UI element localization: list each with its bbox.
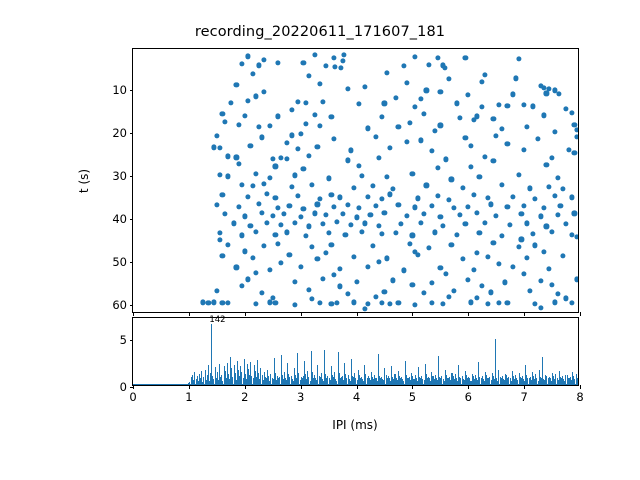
- scatter-point: [326, 231, 331, 236]
- scatter-point: [533, 196, 538, 201]
- scatter-point: [510, 264, 515, 269]
- scatter-point: [485, 195, 490, 200]
- scatter-point: [401, 268, 406, 273]
- scatter-point: [407, 241, 412, 246]
- scatter-point: [572, 150, 577, 155]
- scatter-point: [530, 104, 535, 109]
- scatter-point: [530, 231, 535, 236]
- scatter-point: [404, 140, 409, 145]
- scatter-point: [253, 229, 258, 234]
- scatter-point: [499, 127, 504, 132]
- scatter-point: [251, 255, 256, 260]
- scatter-point: [234, 265, 239, 270]
- scatter-point: [290, 108, 295, 113]
- scatter-y-ticklabel: 20: [112, 126, 127, 140]
- scatter-y-ticklabel: 50: [112, 255, 127, 269]
- scatter-point: [301, 206, 306, 211]
- scatter-point: [245, 98, 250, 103]
- scatter-point: [295, 147, 300, 152]
- histogram-baseline: [133, 384, 578, 385]
- scatter-point: [429, 149, 434, 154]
- scatter-point: [278, 222, 283, 227]
- scatter-point: [410, 233, 415, 238]
- scatter-point: [563, 296, 568, 301]
- scatter-point: [337, 195, 342, 200]
- scatter-point: [211, 145, 216, 150]
- scatter-point: [276, 114, 281, 119]
- scatter-point: [220, 301, 225, 306]
- scatter-point: [404, 81, 409, 86]
- scatter-point: [488, 202, 493, 207]
- scatter-point: [329, 115, 334, 120]
- scatter-point: [446, 295, 451, 300]
- scatter-point: [292, 220, 297, 225]
- scatter-point: [536, 137, 541, 142]
- scatter-point: [290, 133, 295, 138]
- scatter-point: [522, 272, 527, 277]
- scatter-point: [357, 206, 362, 211]
- scatter-point: [435, 194, 440, 199]
- scatter-point: [488, 290, 493, 295]
- scatter-point: [351, 300, 356, 305]
- scatter-point: [315, 202, 320, 207]
- scatter-point: [239, 182, 244, 187]
- scatter-point: [390, 186, 395, 191]
- scatter-point: [337, 267, 342, 272]
- scatter-point: [432, 128, 437, 133]
- scatter-point: [217, 230, 222, 235]
- scatter-point: [312, 52, 317, 57]
- scatter-point: [223, 119, 228, 124]
- scatter-point: [413, 302, 418, 307]
- scatter-point: [563, 106, 568, 111]
- scatter-point: [468, 144, 473, 149]
- scatter-point: [326, 176, 331, 181]
- histogram-x-tick: [357, 385, 358, 389]
- scatter-point: [220, 253, 225, 258]
- scatter-point: [474, 251, 479, 256]
- scatter-point: [575, 128, 578, 133]
- histogram-x-ticklabel: 7: [520, 390, 527, 404]
- scatter-point: [217, 172, 222, 177]
- scatter-point: [421, 291, 426, 296]
- scatter-point: [304, 100, 309, 105]
- scatter-point: [491, 158, 496, 163]
- scatter-point: [359, 229, 364, 234]
- histogram-x-ticklabel: 5: [409, 390, 416, 404]
- scatter-y-axis-label: t (s): [77, 169, 91, 193]
- scatter-point: [259, 290, 264, 295]
- scatter-y-ticklabel: 10: [112, 83, 127, 97]
- scatter-point: [225, 154, 230, 159]
- scatter-point: [471, 267, 476, 272]
- scatter-point: [315, 144, 320, 149]
- scatter-point: [295, 99, 300, 104]
- scatter-point: [396, 125, 401, 130]
- scatter-point: [273, 164, 278, 169]
- scatter-x-tick: [301, 312, 302, 316]
- scatter-point: [516, 244, 521, 249]
- scatter-point: [262, 181, 267, 186]
- scatter-point: [220, 193, 225, 198]
- scatter-point: [572, 122, 577, 127]
- scatter-point: [544, 163, 549, 168]
- scatter-point: [510, 194, 515, 199]
- scatter-point: [563, 222, 568, 227]
- scatter-point: [482, 72, 487, 77]
- scatter-point: [298, 131, 303, 136]
- scatter-point: [533, 243, 538, 248]
- scatter-point: [309, 182, 314, 187]
- scatter-point: [547, 266, 552, 271]
- scatter-point: [494, 133, 499, 138]
- scatter-point: [287, 203, 292, 208]
- scatter-point: [558, 204, 563, 209]
- scatter-point: [569, 301, 574, 306]
- scatter-point: [524, 255, 529, 260]
- scatter-point: [516, 172, 521, 177]
- scatter-point: [306, 224, 311, 229]
- scatter-point: [329, 242, 334, 247]
- scatter-point: [460, 257, 465, 262]
- scatter-point: [496, 301, 501, 306]
- scatter-point: [441, 223, 446, 228]
- scatter-point: [454, 232, 459, 237]
- scatter-point: [407, 121, 412, 126]
- scatter-point: [538, 214, 543, 219]
- scatter-point: [365, 126, 370, 131]
- scatter-point: [267, 300, 272, 305]
- scatter-point: [480, 104, 485, 109]
- scatter-point: [365, 264, 370, 269]
- scatter-point: [265, 220, 270, 225]
- scatter-point: [513, 76, 518, 81]
- scatter-y-ticklabel: 40: [112, 212, 127, 226]
- scatter-point: [276, 61, 281, 66]
- scatter-point: [309, 245, 314, 250]
- histogram-x-ticklabel: 8: [576, 390, 583, 404]
- histogram-x-tick: [245, 385, 246, 389]
- histogram-x-tick: [524, 385, 525, 389]
- scatter-y-tick: [130, 133, 134, 134]
- histogram-x-axis-label: IPI (ms): [332, 418, 377, 432]
- scatter-point: [214, 134, 219, 139]
- scatter-point: [318, 123, 323, 128]
- scatter-point: [519, 212, 524, 217]
- scatter-point: [306, 74, 311, 79]
- scatter-point: [237, 204, 242, 209]
- scatter-point: [438, 123, 443, 128]
- scatter-point: [320, 99, 325, 104]
- scatter-point: [320, 276, 325, 281]
- scatter-point: [338, 65, 343, 70]
- scatter-point: [572, 211, 577, 216]
- scatter-point: [287, 252, 292, 257]
- scatter-point: [401, 64, 406, 69]
- matplotlib-figure: recording_20220611_171607_181 t (s) 1020…: [0, 0, 640, 480]
- scatter-point: [432, 230, 437, 235]
- scatter-point: [245, 54, 250, 59]
- scatter-point: [357, 163, 362, 168]
- scatter-point: [284, 140, 289, 145]
- scatter-x-tick: [189, 312, 190, 316]
- scatter-point: [399, 222, 404, 227]
- scatter-y-tick: [130, 176, 134, 177]
- scatter-point: [393, 230, 398, 235]
- scatter-point: [505, 103, 510, 108]
- scatter-point: [295, 193, 300, 198]
- scatter-point: [365, 194, 370, 199]
- scatter-point: [337, 284, 342, 289]
- scatter-point: [234, 83, 239, 88]
- scatter-point: [555, 292, 560, 297]
- scatter-point: [460, 185, 465, 190]
- scatter-point: [376, 223, 381, 228]
- scatter-point: [480, 79, 485, 84]
- scatter-point: [379, 232, 384, 237]
- scatter-point: [474, 210, 479, 215]
- scatter-point: [323, 64, 328, 69]
- histogram-x-ticklabel: 2: [241, 390, 248, 404]
- scatter-point: [242, 214, 247, 219]
- scatter-point: [382, 289, 387, 294]
- scatter-point: [373, 294, 378, 299]
- scatter-point: [547, 184, 552, 189]
- scatter-point: [376, 155, 381, 160]
- scatter-point: [284, 230, 289, 235]
- scatter-point: [524, 124, 529, 129]
- scatter-point: [245, 277, 250, 282]
- scatter-x-tick: [357, 312, 358, 316]
- scatter-x-tick: [524, 312, 525, 316]
- scatter-point: [373, 204, 378, 209]
- scatter-point: [575, 134, 578, 139]
- scatter-point: [253, 270, 258, 275]
- histogram-axes: 05012345678 142: [132, 317, 579, 386]
- scatter-point: [273, 195, 278, 200]
- scatter-point: [446, 197, 451, 202]
- scatter-point: [538, 305, 543, 310]
- scatter-point: [424, 183, 429, 188]
- scatter-point: [482, 220, 487, 225]
- scatter-point: [421, 211, 426, 216]
- scatter-point: [429, 300, 434, 305]
- scatter-point: [379, 197, 384, 202]
- scatter-point: [482, 154, 487, 159]
- scatter-point: [549, 156, 554, 161]
- scatter-point: [346, 291, 351, 296]
- scatter-point: [309, 296, 314, 301]
- scatter-point: [242, 113, 247, 118]
- histogram-y-tick: [130, 340, 134, 341]
- scatter-point: [301, 166, 306, 171]
- scatter-point: [413, 54, 418, 59]
- scatter-point: [387, 301, 392, 306]
- scatter-point: [418, 220, 423, 225]
- scatter-point: [446, 77, 451, 82]
- scatter-point: [552, 193, 557, 198]
- scatter-point: [427, 245, 432, 250]
- scatter-point: [522, 203, 527, 208]
- scatter-point: [239, 283, 244, 288]
- figure-title: recording_20220611_171607_181: [0, 24, 640, 40]
- scatter-point: [541, 113, 546, 118]
- scatter-point: [332, 55, 337, 60]
- scatter-point: [373, 134, 378, 139]
- scatter-point: [315, 256, 320, 261]
- scatter-point: [340, 212, 345, 217]
- scatter-point: [524, 221, 529, 226]
- scatter-point: [499, 182, 504, 187]
- scatter-point: [549, 282, 554, 287]
- scatter-point: [256, 63, 261, 68]
- scatter-point: [387, 145, 392, 150]
- scatter-point: [290, 185, 295, 190]
- scatter-point: [549, 229, 554, 234]
- scatter-point: [477, 231, 482, 236]
- scatter-point: [471, 118, 476, 123]
- scatter-point: [239, 233, 244, 238]
- scatter-y-tick: [130, 262, 134, 263]
- scatter-point: [242, 249, 247, 254]
- scatter-point: [334, 301, 339, 306]
- scatter-point: [262, 90, 267, 95]
- scatter-point: [522, 147, 527, 152]
- scatter-point: [348, 222, 353, 227]
- scatter-point: [251, 71, 256, 76]
- scatter-point: [435, 166, 440, 171]
- scatter-point: [320, 221, 325, 226]
- scatter-x-tick: [580, 312, 581, 316]
- scatter-point: [385, 256, 390, 261]
- scatter-point: [569, 195, 574, 200]
- scatter-point: [477, 174, 482, 179]
- scatter-point: [318, 300, 323, 305]
- scatter-point: [379, 300, 384, 305]
- scatter-point: [466, 92, 471, 97]
- scatter-point: [368, 212, 373, 217]
- scatter-point: [491, 116, 496, 121]
- scatter-point: [301, 60, 306, 65]
- scatter-point: [382, 101, 387, 106]
- scatter-point: [474, 295, 479, 300]
- scatter-point: [292, 302, 297, 307]
- scatter-point: [522, 102, 527, 107]
- scatter-point: [298, 214, 303, 219]
- scatter-x-tick: [412, 312, 413, 316]
- scatter-point: [357, 102, 362, 107]
- scatter-point: [533, 301, 538, 306]
- scatter-point: [267, 267, 272, 272]
- histogram-x-ticklabel: 6: [465, 390, 472, 404]
- histogram-bars-layer: [133, 318, 578, 385]
- scatter-point: [323, 250, 328, 255]
- scatter-point: [334, 219, 339, 224]
- scatter-point: [413, 105, 418, 110]
- scatter-point: [231, 221, 236, 226]
- scatter-point: [505, 204, 510, 209]
- scatter-point: [443, 271, 448, 276]
- histogram-x-tick: [412, 385, 413, 389]
- scatter-point: [329, 301, 334, 306]
- scatter-point: [541, 85, 546, 90]
- scatter-point: [267, 124, 272, 129]
- scatter-point: [217, 238, 222, 243]
- scatter-point: [359, 173, 364, 178]
- scatter-point: [225, 300, 230, 305]
- scatter-point: [544, 224, 549, 229]
- scatter-point: [267, 175, 272, 180]
- scatter-point: [552, 129, 557, 134]
- scatter-point: [382, 210, 387, 215]
- scatter-point: [442, 65, 447, 70]
- scatter-y-ticklabel: 60: [112, 298, 127, 312]
- scatter-point: [516, 56, 521, 61]
- scatter-x-tick: [133, 312, 134, 316]
- scatter-point: [262, 57, 267, 62]
- scatter-point: [354, 279, 359, 284]
- scatter-point: [404, 213, 409, 218]
- scatter-point: [555, 175, 560, 180]
- scatter-point: [342, 52, 347, 57]
- scatter-point: [376, 260, 381, 265]
- scatter-point: [306, 288, 311, 293]
- histogram-y-ticklabel: 0: [120, 380, 127, 394]
- scatter-point: [332, 136, 337, 141]
- scatter-point: [304, 122, 309, 127]
- scatter-point: [225, 174, 230, 179]
- scatter-point: [418, 138, 423, 143]
- scatter-point: [276, 205, 281, 210]
- scatter-point: [371, 183, 376, 188]
- scatter-point: [561, 187, 566, 192]
- scatter-point: [253, 94, 258, 99]
- scatter-point: [438, 90, 443, 95]
- scatter-point: [365, 301, 370, 306]
- scatter-point: [200, 300, 205, 305]
- scatter-point: [468, 300, 473, 305]
- scatter-point: [333, 65, 338, 70]
- scatter-point: [538, 278, 543, 283]
- scatter-point: [259, 210, 264, 215]
- scatter-point: [379, 114, 384, 119]
- scatter-point: [304, 233, 309, 238]
- scatter-point: [323, 213, 328, 218]
- scatter-point: [206, 300, 211, 305]
- scatter-point: [346, 203, 351, 208]
- scatter-point: [427, 62, 432, 67]
- scatter-point: [569, 111, 574, 116]
- scatter-point: [270, 156, 275, 161]
- scatter-point: [237, 122, 242, 127]
- scatter-point: [351, 254, 356, 259]
- scatter-point: [485, 254, 490, 259]
- scatter-point: [424, 88, 429, 93]
- scatter-point: [292, 173, 297, 178]
- scatter-point: [449, 242, 454, 247]
- scatter-point: [340, 58, 345, 63]
- scatter-point: [273, 232, 278, 237]
- scatter-point: [443, 157, 448, 162]
- scatter-point: [256, 201, 261, 206]
- histogram-x-tick: [580, 385, 581, 389]
- scatter-point: [463, 135, 468, 140]
- scatter-point: [452, 206, 457, 211]
- scatter-point: [211, 300, 216, 305]
- scatter-point: [429, 280, 434, 285]
- scatter-point: [396, 301, 401, 306]
- scatter-point: [496, 102, 501, 107]
